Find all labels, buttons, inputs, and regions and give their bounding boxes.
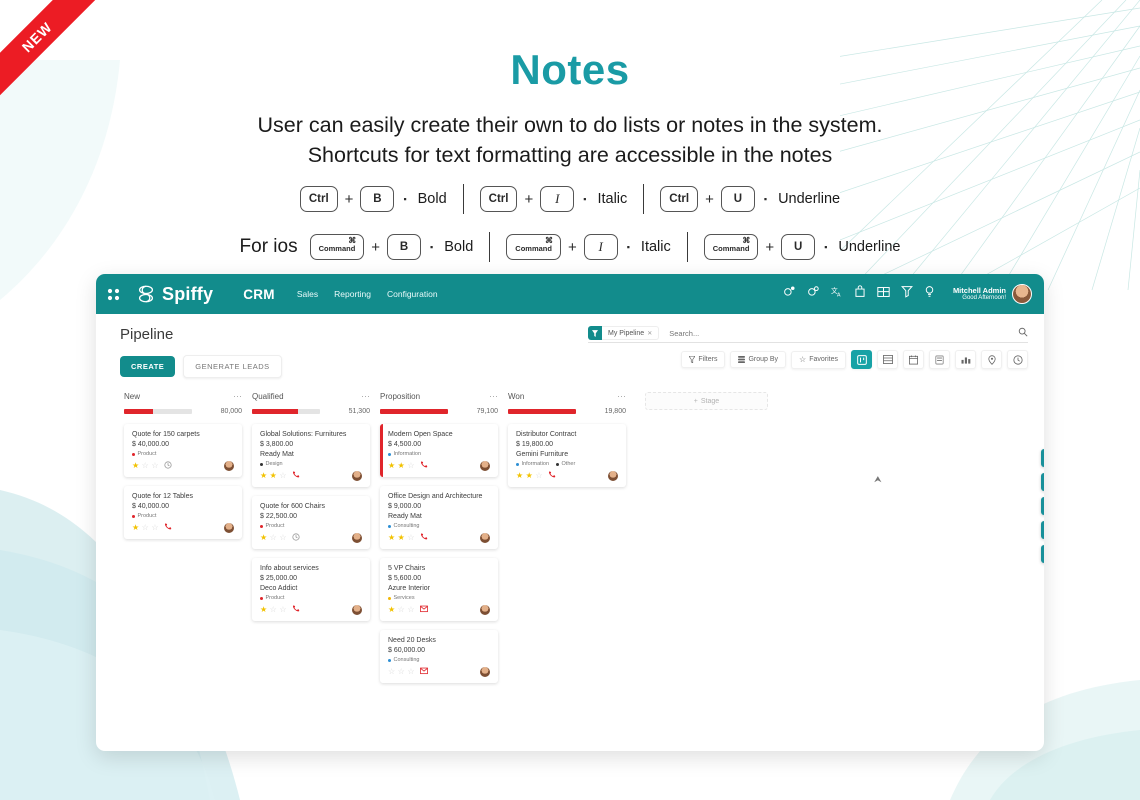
card-title: Distributor Contract xyxy=(516,431,618,438)
card-title: Modern Open Space xyxy=(388,431,490,438)
graph-view-icon[interactable] xyxy=(955,350,976,369)
control-bar: Pipeline CREATE GENERATE LEADS My Pipeli… xyxy=(96,314,1044,378)
phone-icon[interactable] xyxy=(420,461,428,471)
phone-icon[interactable] xyxy=(292,605,300,615)
card-tags: Services xyxy=(388,595,490,601)
shortcut-separator xyxy=(687,232,688,262)
search-facet-label: My Pipeline xyxy=(608,330,644,337)
user-greeting: Good Afternoon! xyxy=(953,295,1006,303)
top-menu-item-reporting[interactable]: Reporting xyxy=(334,289,371,299)
floating-side-tools: ☆ xyxy=(1041,449,1044,563)
shortcut-separator xyxy=(489,232,490,262)
kanban-column-qualified: Qualified⋯51,300Global Solutions: Furnit… xyxy=(252,392,370,683)
card-tag-label: Product xyxy=(138,513,157,519)
plus-sign: + xyxy=(568,239,577,256)
apps-grid-icon[interactable] xyxy=(106,287,121,302)
column-title: Won xyxy=(508,392,524,401)
star-icon[interactable]: ★ xyxy=(398,462,405,470)
mail-icon[interactable] xyxy=(420,667,428,677)
mail-icon[interactable] xyxy=(420,605,428,615)
column-progress-bar xyxy=(124,409,192,414)
clock-icon[interactable] xyxy=(292,533,300,543)
avatar xyxy=(224,461,234,471)
create-button[interactable]: CREATE xyxy=(120,356,175,377)
card-amount: $ 19,800.00 xyxy=(516,441,618,448)
column-progress-bar xyxy=(380,409,448,414)
add-stage-button[interactable]: +Stage xyxy=(645,392,768,410)
column-menu-icon[interactable]: ⋯ xyxy=(233,393,242,399)
star-icon[interactable]: ☆ xyxy=(151,462,158,470)
filters-button[interactable]: Filters xyxy=(681,351,725,368)
star-icon[interactable]: ☆ xyxy=(270,606,277,614)
star-icon[interactable]: ★ xyxy=(526,472,533,480)
card-tags: Design xyxy=(260,461,362,467)
equals-sign: ▪ xyxy=(430,242,433,252)
equals-sign: ▪ xyxy=(403,194,406,204)
plus-sign: + xyxy=(705,191,714,208)
column-amount: 79,100 xyxy=(477,408,498,415)
shortcut-result-label: Underline xyxy=(778,191,840,207)
card-tag-label: Other xyxy=(562,461,576,467)
column-progress-row: 79,100 xyxy=(380,408,498,415)
card-tags: Consulting xyxy=(388,523,490,529)
kanban-card[interactable]: Global Solutions: Furnitures$ 3,800.00Re… xyxy=(252,424,370,487)
favorites-button[interactable]: ☆ Favorites xyxy=(791,351,846,369)
filter-pill-icon[interactable] xyxy=(588,326,602,340)
card-rating[interactable]: ★☆☆ xyxy=(132,524,159,532)
zoom-icon[interactable] xyxy=(1041,521,1044,539)
expand-icon[interactable] xyxy=(1041,497,1044,515)
plus-sign: + xyxy=(345,191,354,208)
key-i: I xyxy=(584,234,618,260)
page-subtitle: User can easily create their own to do l… xyxy=(0,110,1140,170)
key-command: ⌘Command xyxy=(506,234,561,260)
phone-icon[interactable] xyxy=(420,533,428,543)
command-glyph-icon: ⌘ xyxy=(545,236,553,245)
search-bar: My Pipeline ✕ xyxy=(588,324,1028,343)
card-rating[interactable]: ★☆☆ xyxy=(132,462,159,470)
card-footer: ★★☆ xyxy=(516,471,618,481)
star-icon[interactable]: ☆ xyxy=(142,524,149,532)
favorites-label: Favorites xyxy=(809,356,838,363)
card-tag: Product xyxy=(260,595,284,601)
card-amount: $ 40,000.00 xyxy=(132,441,234,448)
avatar xyxy=(352,471,362,481)
kanban-board: New⋯80,000Quote for 150 carpets$ 40,000.… xyxy=(96,378,1044,683)
star-icon[interactable]: ★ xyxy=(260,534,267,542)
card-tags: Consulting xyxy=(388,657,490,663)
pivot-view-icon[interactable] xyxy=(929,350,950,369)
kanban-card[interactable]: Distributor Contract$ 19,800.00Gemini Fu… xyxy=(508,424,626,487)
add-stage-label: Stage xyxy=(701,398,719,405)
card-tag: Consulting xyxy=(388,657,420,663)
plus-icon: + xyxy=(694,398,698,405)
card-title: Need 20 Desks xyxy=(388,637,490,644)
column-title: New xyxy=(124,392,140,401)
shortcut-underline: ⌘Command+U▪Underline xyxy=(704,234,901,260)
card-tags: Product xyxy=(132,451,234,457)
column-amount: 19,800 xyxy=(605,408,626,415)
card-tag: Design xyxy=(260,461,283,467)
card-tags: InformationOther xyxy=(516,461,618,467)
card-tag: Information xyxy=(516,461,549,467)
user-menu[interactable]: Mitchell Admin Good Afternoon! xyxy=(953,284,1032,304)
star-icon[interactable]: ☆ xyxy=(398,606,405,614)
kanban-card[interactable]: Need 20 Desks$ 60,000.00Consulting☆☆☆ xyxy=(380,630,498,683)
shortcut-italic: ⌘Command+I▪Italic xyxy=(506,234,670,260)
card-tags: Product xyxy=(260,595,362,601)
star-icon[interactable]: ★ xyxy=(388,462,395,470)
card-partner: Gemini Furniture xyxy=(516,451,618,458)
card-amount: $ 40,000.00 xyxy=(132,503,234,510)
star-icon[interactable]: ☆ xyxy=(1041,449,1044,467)
command-glyph-icon: ⌘ xyxy=(742,236,750,245)
card-amount: $ 60,000.00 xyxy=(388,647,490,654)
kanban-card[interactable]: Info about services$ 25,000.00Deco Addic… xyxy=(252,558,370,621)
card-footer: ★☆☆ xyxy=(132,523,234,533)
column-menu-icon[interactable]: ⋯ xyxy=(617,393,626,399)
shortcut-result-label: Underline xyxy=(838,239,900,255)
card-footer: ★★☆ xyxy=(388,461,490,471)
star-icon[interactable]: ☆ xyxy=(279,472,286,480)
card-tag-label: Design xyxy=(266,461,283,467)
user-name: Mitchell Admin xyxy=(953,286,1006,295)
equals-sign: ▪ xyxy=(764,194,767,204)
card-rating[interactable]: ★★☆ xyxy=(516,472,543,480)
card-tag-label: Product xyxy=(138,451,157,457)
column-progress-bar xyxy=(252,409,320,414)
kanban-column-won: Won⋯19,800Distributor Contract$ 19,800.0… xyxy=(508,392,626,683)
star-icon[interactable]: ☆ xyxy=(535,472,542,480)
key-ctrl: Ctrl xyxy=(660,186,698,212)
generate-leads-button[interactable]: GENERATE LEADS xyxy=(183,355,281,378)
star-icon[interactable]: ★ xyxy=(516,472,523,480)
shortcut-separator xyxy=(463,184,464,214)
star-icon[interactable]: ☆ xyxy=(279,606,286,614)
shortcut-result-label: Italic xyxy=(641,239,671,255)
kanban-card[interactable]: Modern Open Space$ 4,500.00Information★★… xyxy=(380,424,498,477)
card-amount: $ 22,500.00 xyxy=(260,513,362,520)
kanban-card[interactable]: Office Design and Architecture$ 9,000.00… xyxy=(380,486,498,549)
card-tag: Information xyxy=(388,451,421,457)
top-menu-item-configuration[interactable]: Configuration xyxy=(387,289,438,299)
clock-icon[interactable] xyxy=(164,461,172,471)
card-footer: ★☆☆ xyxy=(260,533,362,543)
card-partner: Azure Interior xyxy=(388,585,490,592)
star-icon[interactable]: ★ xyxy=(132,462,139,470)
column-header: Qualified⋯ xyxy=(252,392,370,401)
key-b: B xyxy=(360,186,394,212)
key-i: I xyxy=(540,186,574,212)
card-tag: Product xyxy=(132,451,156,457)
card-amount: $ 4,500.00 xyxy=(388,441,490,448)
subtitle-line-2: Shortcuts for text formatting are access… xyxy=(0,140,1140,170)
column-title: Proposition xyxy=(380,392,420,401)
star-icon[interactable]: ★ xyxy=(260,472,267,480)
group-by-button[interactable]: Group By xyxy=(730,351,786,368)
page-title: Notes xyxy=(0,46,1140,94)
card-partner: Ready Mat xyxy=(388,513,490,520)
shopping-bag-icon[interactable] xyxy=(854,285,866,303)
card-partner: Ready Mat xyxy=(260,451,362,458)
card-footer: ★★☆ xyxy=(260,471,362,481)
column-amount: 80,000 xyxy=(221,408,242,415)
shortcut-result-label: Italic xyxy=(597,191,627,207)
avatar xyxy=(224,523,234,533)
avatar xyxy=(1012,284,1032,304)
equals-sign: ▪ xyxy=(583,194,586,204)
shortcut-underline: Ctrl+U▪Underline xyxy=(660,186,840,212)
card-tag: Consulting xyxy=(388,523,420,529)
app-window: Spiffy CRM SalesReportingConfiguration 文… xyxy=(96,274,1044,751)
star-icon[interactable]: ☆ xyxy=(151,524,158,532)
plus-sign: + xyxy=(371,239,380,256)
map-view-icon[interactable] xyxy=(981,350,1002,369)
activity-view-icon[interactable] xyxy=(1007,350,1028,369)
equals-sign: ▪ xyxy=(627,242,630,252)
card-tag-label: Services xyxy=(394,595,415,601)
shortcut-result-label: Bold xyxy=(444,239,473,255)
column-progress-row: 51,300 xyxy=(252,408,370,415)
column-progress-row: 80,000 xyxy=(124,408,242,415)
top-menu-item-sales[interactable]: Sales xyxy=(297,289,318,299)
shortcut-bold: Ctrl+B▪Bold xyxy=(300,186,447,212)
avatar xyxy=(480,605,490,615)
card-tags: Product xyxy=(260,523,362,529)
chat-icon[interactable] xyxy=(783,285,796,303)
card-tag-label: Information xyxy=(522,461,550,467)
card-title: Office Design and Architecture xyxy=(388,493,490,500)
list-view-icon[interactable] xyxy=(877,350,898,369)
phone-icon[interactable] xyxy=(292,471,300,481)
star-icon[interactable]: ☆ xyxy=(407,534,414,542)
star-icon[interactable]: ☆ xyxy=(142,462,149,470)
card-rating[interactable]: ★★☆ xyxy=(388,462,415,470)
card-title: Info about services xyxy=(260,565,362,572)
key-command: ⌘Command xyxy=(310,234,365,260)
view-switcher-bar: Filters Group By ☆ Favorites xyxy=(681,350,1028,369)
bookmark-icon[interactable] xyxy=(1041,545,1044,563)
card-tags: Information xyxy=(388,451,490,457)
card-title: Global Solutions: Furnitures xyxy=(260,431,362,438)
shortcut-result-label: Bold xyxy=(418,191,447,207)
kanban-card[interactable]: Quote for 150 carpets$ 40,000.00Product★… xyxy=(124,424,242,477)
card-tag-label: Consulting xyxy=(394,657,420,663)
star-icon[interactable]: ☆ xyxy=(407,606,414,614)
star-icon[interactable]: ★ xyxy=(388,534,395,542)
search-icon[interactable] xyxy=(1041,473,1044,491)
brand-logo[interactable]: Spiffy xyxy=(135,283,213,305)
plus-sign: + xyxy=(524,191,533,208)
card-amount: $ 5,600.00 xyxy=(388,575,490,582)
mouse-cursor: ⮝ xyxy=(874,474,882,485)
plus-sign: + xyxy=(765,239,774,256)
avatar xyxy=(352,605,362,615)
kanban-card[interactable]: Quote for 600 Chairs$ 22,500.00Product★☆… xyxy=(252,496,370,549)
column-progress-row: 19,800 xyxy=(508,408,626,415)
card-title: Quote for 600 Chairs xyxy=(260,503,362,510)
card-amount: $ 3,800.00 xyxy=(260,441,362,448)
key-ctrl: Ctrl xyxy=(300,186,338,212)
star-icon[interactable]: ★ xyxy=(388,606,395,614)
card-rating[interactable]: ★★☆ xyxy=(260,472,287,480)
search-icon[interactable] xyxy=(1018,324,1028,342)
top-menu: SalesReportingConfiguration xyxy=(297,289,438,299)
new-ribbon-label: NEW xyxy=(0,0,101,101)
lightbulb-icon[interactable] xyxy=(924,285,935,303)
column-amount: 51,300 xyxy=(349,408,370,415)
card-amount: $ 9,000.00 xyxy=(388,503,490,510)
star-icon[interactable]: ☆ xyxy=(279,534,286,542)
star-icon[interactable]: ☆ xyxy=(407,462,414,470)
column-header: Proposition⋯ xyxy=(380,392,498,401)
kanban-column-new: New⋯80,000Quote for 150 carpets$ 40,000.… xyxy=(124,392,242,683)
ios-label: For ios xyxy=(240,236,298,258)
star-icon[interactable]: ☆ xyxy=(398,668,405,676)
calendar-view-icon[interactable] xyxy=(903,350,924,369)
key-b: B xyxy=(387,234,421,260)
filters-label: Filters xyxy=(698,356,717,363)
avatar xyxy=(352,533,362,543)
equals-sign: ▪ xyxy=(824,242,827,252)
app-top-bar: Spiffy CRM SalesReportingConfiguration 文… xyxy=(96,274,1044,314)
shortcut-italic: Ctrl+I▪Italic xyxy=(480,186,628,212)
card-tag-label: Consulting xyxy=(394,523,420,529)
card-footer: ☆☆☆ xyxy=(388,667,490,677)
brand-module[interactable]: CRM xyxy=(243,287,275,302)
column-menu-icon[interactable]: ⋯ xyxy=(361,393,370,399)
card-footer: ★☆☆ xyxy=(388,605,490,615)
card-footer: ★☆☆ xyxy=(260,605,362,615)
svg-text:A: A xyxy=(837,293,841,299)
window-icon[interactable] xyxy=(877,285,890,303)
key-command: ⌘Command xyxy=(704,234,759,260)
card-amount: $ 25,000.00 xyxy=(260,575,362,582)
subtitle-line-1: User can easily create their own to do l… xyxy=(0,110,1140,140)
shortcut-separator xyxy=(643,184,644,214)
column-progress-bar xyxy=(508,409,576,414)
star-icon[interactable]: ★ xyxy=(132,524,139,532)
avatar xyxy=(480,667,490,677)
star-icon[interactable]: ☆ xyxy=(270,534,277,542)
add-stage-column: +Stage xyxy=(645,392,768,683)
star-icon[interactable]: ★ xyxy=(260,606,267,614)
search-facet[interactable]: My Pipeline ✕ xyxy=(602,326,659,340)
spiffy-logo-icon xyxy=(135,283,157,305)
translate-icon[interactable]: 文A xyxy=(831,285,843,303)
card-tag: Product xyxy=(260,523,284,529)
kanban-view-icon[interactable] xyxy=(851,350,872,369)
card-title: 5 VP Chairs xyxy=(388,565,490,572)
column-menu-icon[interactable]: ⋯ xyxy=(489,393,498,399)
card-rating[interactable]: ★☆☆ xyxy=(388,606,415,614)
kanban-column-proposition: Proposition⋯79,100Modern Open Space$ 4,5… xyxy=(380,392,498,683)
funnel-icon[interactable] xyxy=(901,285,913,303)
card-rating[interactable]: ★☆☆ xyxy=(260,534,287,542)
key-u: U xyxy=(721,186,755,212)
close-icon[interactable]: ✕ xyxy=(647,330,652,337)
card-partner: Deco Addict xyxy=(260,585,362,592)
messages-icon[interactable] xyxy=(807,285,820,303)
column-title: Qualified xyxy=(252,392,284,401)
card-rating[interactable]: ☆☆☆ xyxy=(388,668,415,676)
kanban-card[interactable]: Quote for 12 Tables$ 40,000.00Product★☆☆ xyxy=(124,486,242,539)
column-header: New⋯ xyxy=(124,392,242,401)
shortcut-bold: ⌘Command+B▪Bold xyxy=(310,234,474,260)
windows-shortcuts-row: Ctrl+B▪BoldCtrl+I▪ItalicCtrl+U▪Underline xyxy=(0,184,1140,214)
star-icon: ☆ xyxy=(799,356,806,364)
group-by-label: Group By xyxy=(748,356,778,363)
brand-name: Spiffy xyxy=(162,284,213,305)
star-icon[interactable]: ★ xyxy=(270,472,277,480)
card-tag: Product xyxy=(132,513,156,519)
card-tag-label: Product xyxy=(266,523,285,529)
search-input[interactable] xyxy=(669,329,1018,338)
avatar xyxy=(480,461,490,471)
card-footer: ★★☆ xyxy=(388,533,490,543)
key-u: U xyxy=(781,234,815,260)
phone-icon[interactable] xyxy=(548,471,556,481)
star-icon[interactable]: ☆ xyxy=(407,668,414,676)
phone-icon[interactable] xyxy=(164,523,172,533)
star-icon[interactable]: ★ xyxy=(398,534,405,542)
avatar xyxy=(480,533,490,543)
avatar xyxy=(608,471,618,481)
top-bar-actions: 文A Mitchell Admin Go xyxy=(783,284,1032,304)
card-rating[interactable]: ★★☆ xyxy=(388,534,415,542)
card-rating[interactable]: ★☆☆ xyxy=(260,606,287,614)
card-title: Quote for 12 Tables xyxy=(132,493,234,500)
ios-shortcuts-row: For ios ⌘Command+B▪Bold⌘Command+I▪Italic… xyxy=(0,232,1140,262)
new-ribbon: NEW xyxy=(0,0,112,112)
card-tag: Services xyxy=(388,595,415,601)
card-tags: Product xyxy=(132,513,234,519)
card-title: Quote for 150 carpets xyxy=(132,431,234,438)
card-tag: Other xyxy=(556,461,575,467)
kanban-card[interactable]: 5 VP Chairs$ 5,600.00Azure InteriorServi… xyxy=(380,558,498,621)
card-footer: ★☆☆ xyxy=(132,461,234,471)
column-header: Won⋯ xyxy=(508,392,626,401)
key-ctrl: Ctrl xyxy=(480,186,518,212)
command-glyph-icon: ⌘ xyxy=(348,236,356,245)
star-icon[interactable]: ☆ xyxy=(388,668,395,676)
card-tag-label: Product xyxy=(266,595,285,601)
card-tag-label: Information xyxy=(394,451,422,457)
